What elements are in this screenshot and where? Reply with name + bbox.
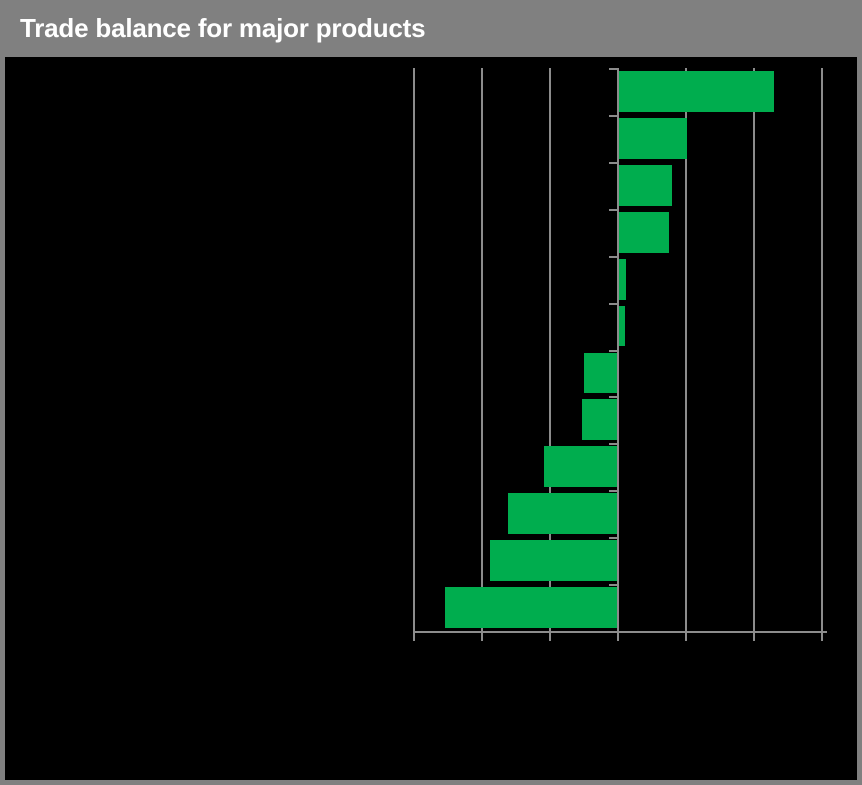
plot-area bbox=[5, 57, 857, 780]
chart-panel bbox=[5, 57, 857, 780]
y-axis-tick bbox=[609, 350, 618, 352]
bar bbox=[582, 399, 617, 440]
y-axis-tick bbox=[609, 256, 618, 258]
y-axis-tick bbox=[609, 209, 618, 211]
y-axis-tick bbox=[609, 490, 618, 492]
bar bbox=[490, 540, 617, 581]
chart-window: Trade balance for major products bbox=[0, 0, 862, 785]
bar bbox=[619, 212, 669, 253]
bar bbox=[619, 71, 774, 112]
y-axis-tick bbox=[609, 396, 618, 398]
gridline bbox=[821, 68, 823, 631]
x-axis-line bbox=[414, 631, 827, 633]
bar bbox=[445, 587, 617, 628]
page-title: Trade balance for major products bbox=[20, 12, 425, 44]
bar bbox=[508, 493, 617, 534]
title-bar: Trade balance for major products bbox=[0, 0, 862, 57]
bar bbox=[619, 118, 687, 159]
y-axis-tick bbox=[609, 584, 618, 586]
y-axis-tick bbox=[609, 115, 618, 117]
bar bbox=[619, 165, 672, 206]
gridline bbox=[753, 68, 755, 631]
bar bbox=[619, 306, 625, 347]
bar bbox=[584, 353, 617, 394]
gridline bbox=[481, 68, 483, 631]
y-axis-tick bbox=[609, 68, 618, 70]
y-axis-tick bbox=[609, 443, 618, 445]
bar bbox=[619, 259, 626, 300]
bar bbox=[544, 446, 617, 487]
gridline bbox=[413, 68, 415, 631]
y-axis-tick bbox=[609, 537, 618, 539]
y-axis-tick bbox=[609, 162, 618, 164]
y-axis-tick bbox=[609, 303, 618, 305]
